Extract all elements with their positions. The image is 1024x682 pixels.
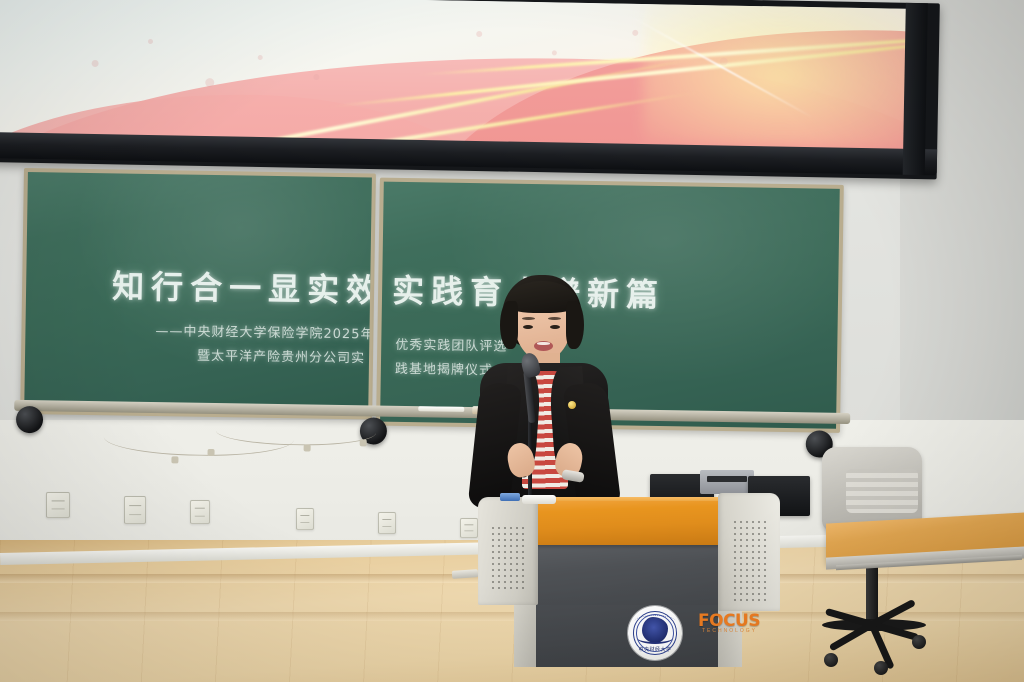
chair-caster-3 — [912, 635, 926, 649]
chalkboard-left-subline-1: ——中央财经大学保险学院2025年暑期 — [155, 320, 372, 343]
wall-outlet-2[interactable] — [124, 496, 146, 524]
university-crest-icon: 中央财经大学 — [628, 606, 682, 660]
lectern-side-right — [718, 493, 780, 611]
presenter-eye-left — [523, 325, 533, 329]
emblem-chinese-text: 中央财经大学 — [628, 646, 682, 653]
presenter-mouth — [534, 341, 553, 351]
screen-surface — [0, 0, 925, 151]
screen-right-edge — [903, 3, 928, 175]
wall-outlet-6[interactable] — [460, 518, 478, 538]
lectern-front-panel: 中央财经大学 FOCUS TECHNOLOGY — [532, 543, 724, 605]
focus-sublabel: TECHNOLOGY — [702, 628, 757, 634]
lectern-lower-body — [536, 603, 718, 667]
presenter-brow-right — [548, 317, 561, 320]
perforated-grille-icon — [732, 519, 770, 603]
chalkboard-rail-knob-left[interactable] — [16, 406, 43, 433]
presenter-brow-left — [522, 317, 535, 320]
lecture-hall-photo: 知行合一显实效 ——中央财经大学保险学院2025年暑期 暨太平洋产险贵州分公司实… — [0, 0, 1024, 682]
wall-outlet-5[interactable] — [378, 512, 396, 534]
lectern-side-left — [478, 497, 538, 605]
chalkboard-left-headline: 知行合一显实效 — [112, 261, 372, 311]
wall-outlet-4[interactable] — [296, 508, 314, 530]
presenter-eye-right — [550, 325, 560, 329]
lectern-wood-rail — [530, 501, 726, 545]
presenter-hair-left — [500, 301, 518, 349]
presenter-hair-right — [566, 301, 584, 349]
presenter-lapel-pin — [568, 401, 576, 409]
chalkboard-left-subline-2: 暨太平洋产险贵州分公司实 — [197, 345, 365, 367]
chair-slats — [846, 469, 918, 513]
chair-caster-2 — [874, 661, 888, 675]
presenter — [470, 275, 620, 515]
wire-clip-4 — [360, 439, 367, 446]
wire-clip-1 — [171, 456, 178, 463]
lectern[interactable]: 中央财经大学 FOCUS TECHNOLOGY — [478, 485, 778, 682]
wall-outlet-3[interactable] — [190, 500, 210, 524]
chair-caster-1 — [824, 653, 838, 667]
blue-folder[interactable] — [500, 493, 520, 501]
projection-screen — [0, 0, 940, 183]
wire-clip-3 — [304, 444, 311, 451]
white-paper[interactable] — [522, 495, 556, 504]
perforated-grille-icon — [490, 525, 526, 591]
wire-clip-2 — [208, 449, 215, 456]
chalk-stick[interactable] — [418, 406, 464, 412]
chalkboard-assembly: 知行合一显实效 ——中央财经大学保险学院2025年暑期 暨太平洋产险贵州分公司实… — [20, 168, 844, 449]
chalkboard-left-panel: 知行合一显实效 ——中央财经大学保险学院2025年暑期 暨太平洋产险贵州分公司实 — [20, 168, 376, 419]
wall-outlet-1[interactable] — [46, 492, 70, 518]
